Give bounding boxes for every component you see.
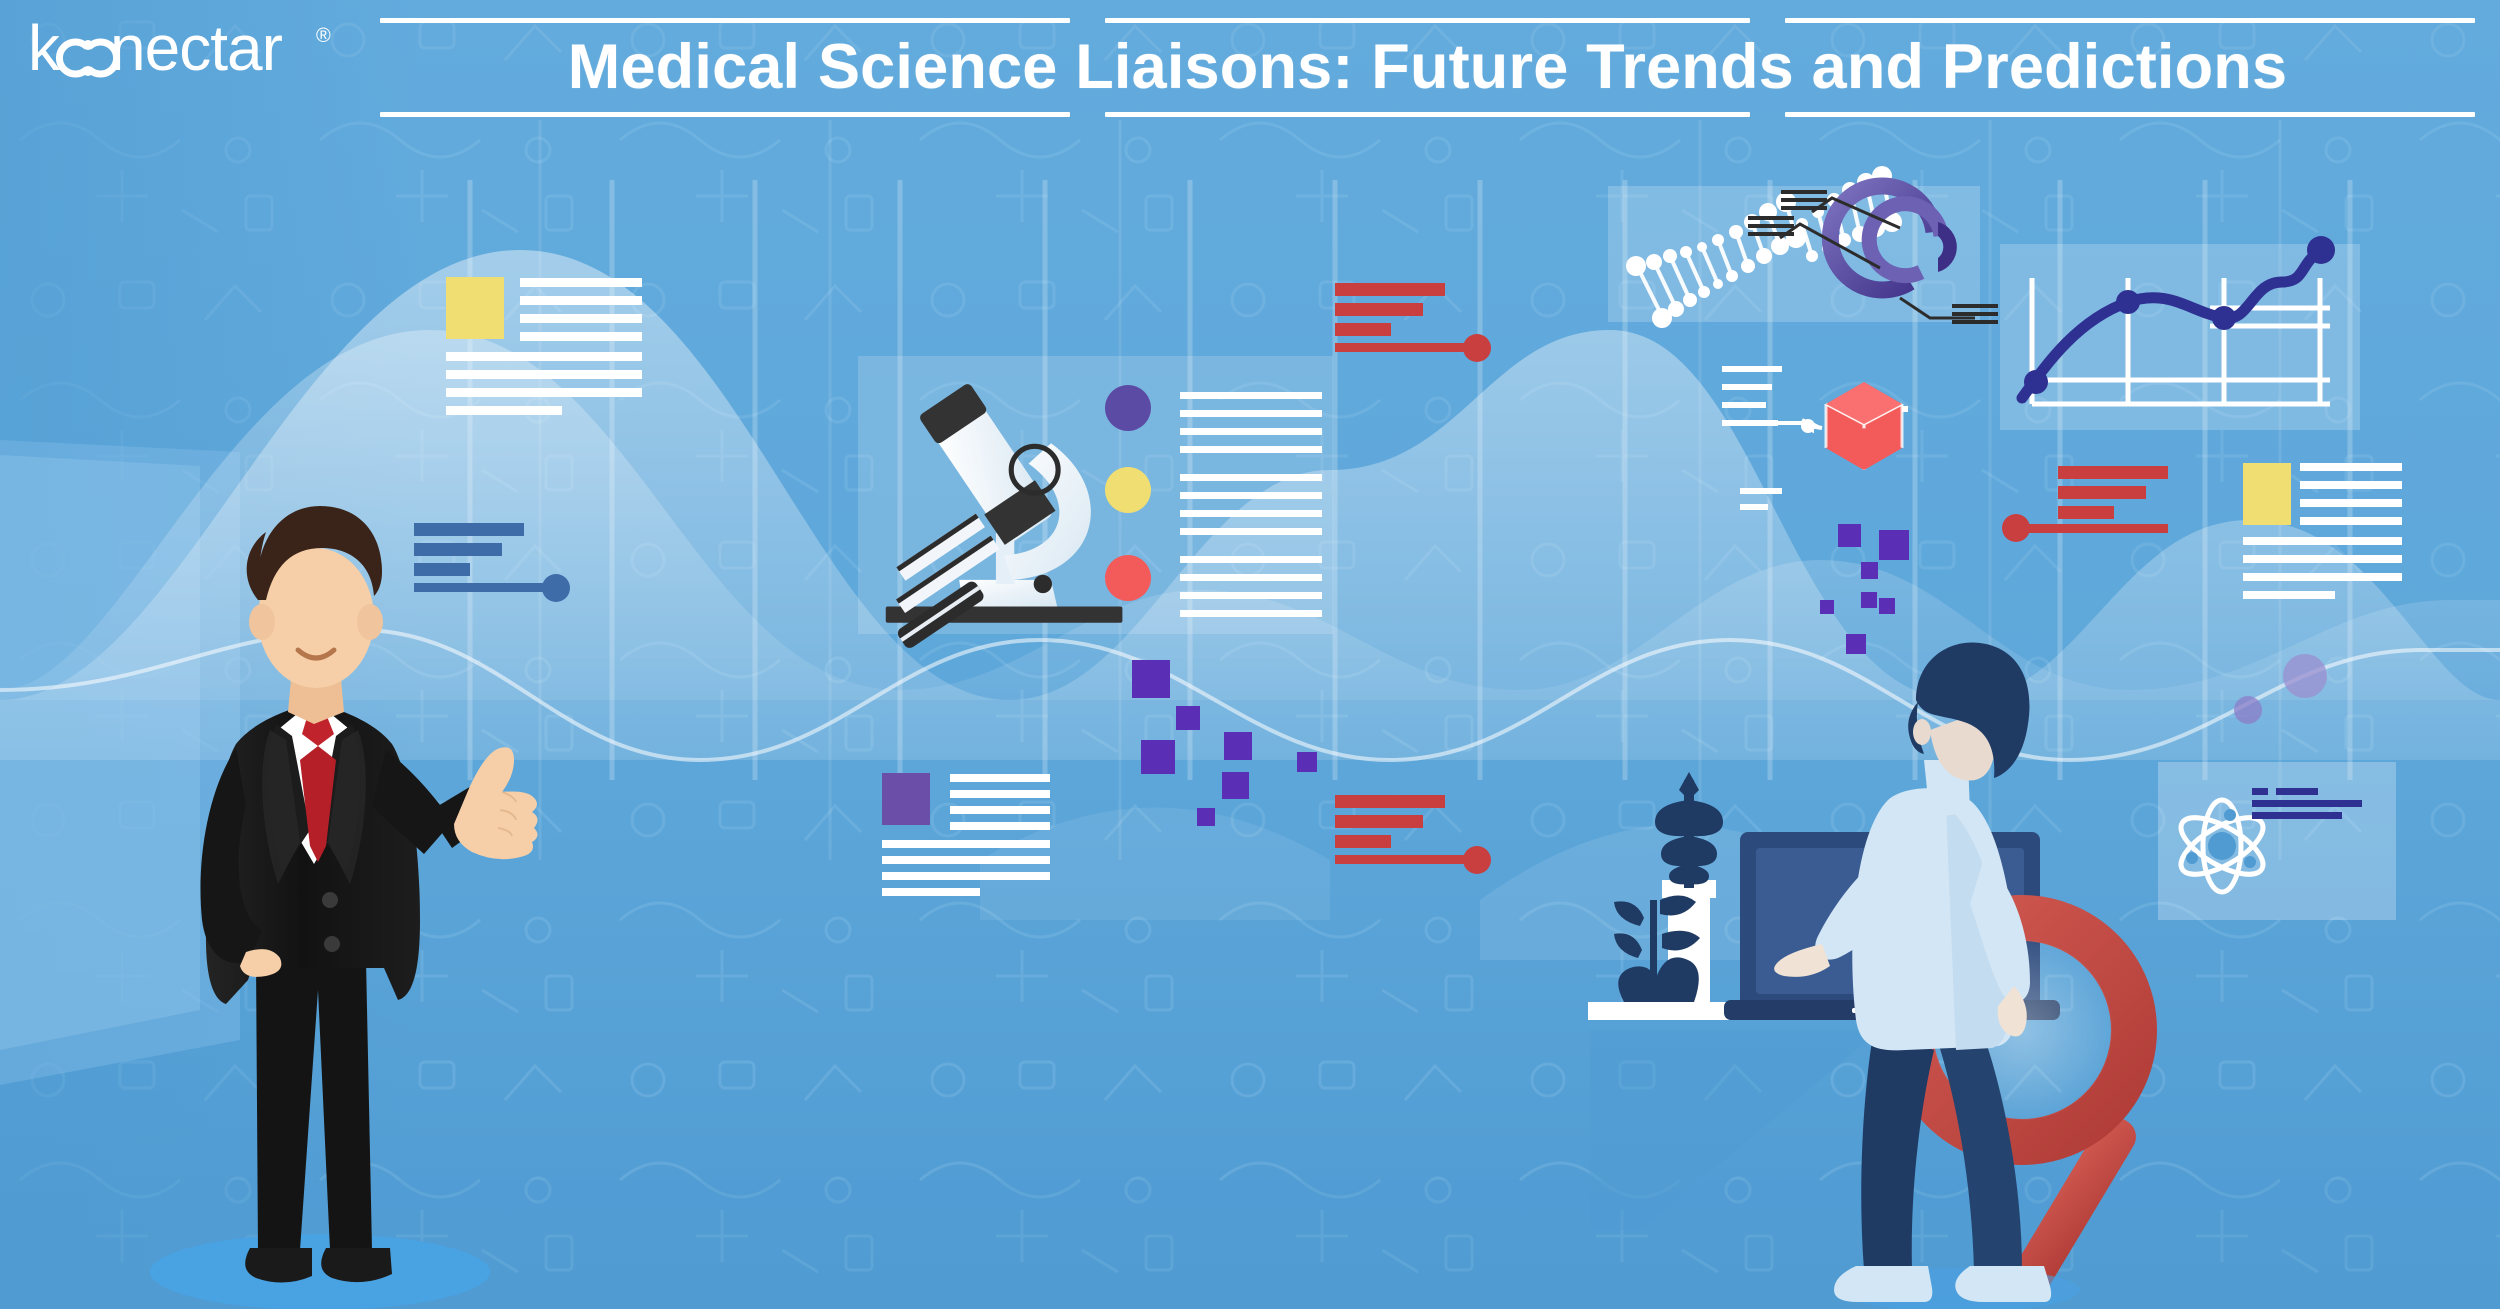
rule-segment — [380, 18, 1070, 23]
illustration-stage: k nectar ® Medical Science Liaisons: Fut… — [0, 0, 2500, 1309]
floor-shadow-left — [150, 1234, 490, 1309]
rule-segment — [1105, 112, 1750, 117]
legend-dot-yellow — [1105, 467, 1322, 535]
bar-chart-blue-left — [414, 523, 570, 602]
logo-trademark-icon: ® — [316, 25, 331, 47]
legend-dot-purple — [1105, 385, 1322, 453]
title-block: Medical Science Liaisons: Future Trends … — [380, 18, 2475, 118]
rule-segment — [1105, 18, 1750, 23]
chart-gridlines — [2032, 278, 2330, 404]
content-layer — [0, 0, 2500, 1309]
microscope-icon — [866, 382, 1123, 650]
purple-squares-cluster — [1132, 524, 1909, 826]
molecule-hexagon-icon — [1722, 366, 1908, 510]
atom-panel-text-lines — [2252, 788, 2362, 819]
analyst-desk-scene — [1588, 642, 2143, 1309]
legend-group — [1105, 385, 1322, 617]
bar-chart-red-center — [1335, 795, 1491, 874]
legend-dot-red — [1105, 555, 1322, 617]
rule-segment — [1785, 18, 2475, 23]
logo-text-k: k — [28, 12, 61, 84]
line-chart-panel — [2022, 236, 2335, 404]
rule-segment — [1785, 112, 2475, 117]
document-card-yellow-right — [2243, 463, 2402, 599]
thumbs-up-hand — [454, 747, 538, 859]
document-card-purple-bottom-left — [882, 773, 1050, 896]
atom-panel-content — [2173, 788, 2362, 892]
bar-chart-red-right — [2002, 466, 2168, 542]
bar-chart-red-top — [1335, 283, 1491, 362]
rule-segment — [380, 112, 1070, 117]
brand-logo[interactable]: k nectar ® — [28, 12, 368, 90]
document-card-yellow-top-left — [446, 277, 642, 415]
chart-markers — [2024, 236, 2335, 394]
logo-text-nectar: nectar — [110, 12, 283, 84]
purple-circles-decor — [2234, 654, 2327, 724]
businessman-thumbs-up — [150, 506, 538, 1309]
konectar-o-node-icon — [59, 40, 116, 76]
page-title: Medical Science Liaisons: Future Trends … — [380, 24, 2475, 112]
title-rule-bottom — [380, 112, 2475, 118]
